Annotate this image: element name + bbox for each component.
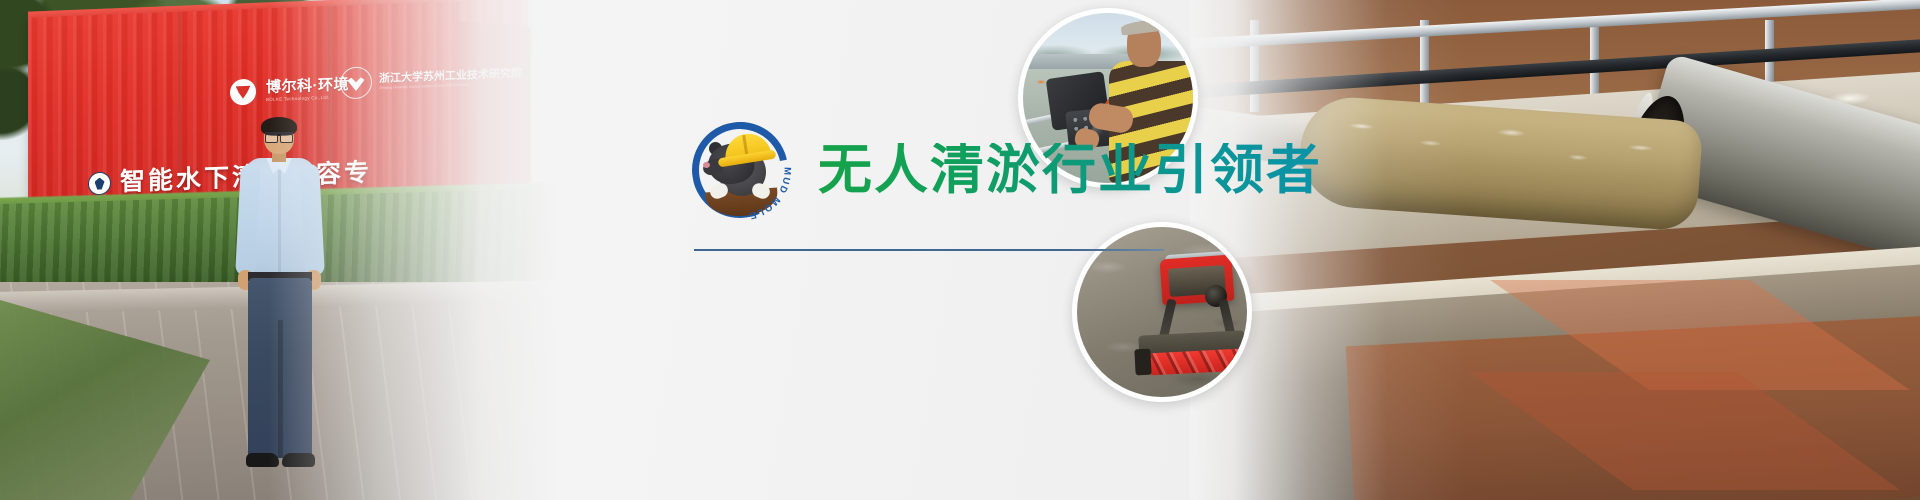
headline-row: MUD MOLE 无人清淤行业引领者 bbox=[688, 118, 1322, 222]
robot-auger-end-cap bbox=[1134, 349, 1151, 376]
svg-text:MUD MOLE: MUD MOLE bbox=[747, 167, 793, 221]
promo-banner: 博尔科·环境 BOLKE Technology Co.,Ltd. 浙江大学苏州工… bbox=[0, 0, 1920, 500]
figure-shoe-left bbox=[246, 453, 279, 467]
left-photo-container-site: 博尔科·环境 BOLKE Technology Co.,Ltd. 浙江大学苏州工… bbox=[0, 0, 560, 500]
bolke-shield-icon bbox=[230, 79, 256, 106]
mud-mole-logo: MUD MOLE bbox=[688, 118, 792, 222]
railing-post bbox=[1250, 20, 1259, 112]
logo-arc-label: MUD MOLE bbox=[747, 167, 793, 221]
logo-arc-text: MUD MOLE bbox=[688, 118, 792, 222]
headline-divider bbox=[694, 249, 1164, 251]
container-brand-cn: 博尔科·环境 bbox=[266, 77, 349, 96]
figure-leg-split bbox=[278, 320, 283, 458]
slogan-badge-icon bbox=[88, 172, 111, 196]
eyeglasses-icon bbox=[265, 132, 293, 139]
center-content: MUD MOLE 无人清淤行业引领者 bbox=[688, 118, 1208, 268]
university-seal-icon bbox=[340, 66, 372, 99]
banner-headline: 无人清淤行业引领者 bbox=[818, 143, 1322, 197]
engineer-figure bbox=[228, 120, 338, 500]
figure-shoe-right bbox=[282, 453, 315, 467]
container-brand-en: BOLKE Technology Co.,Ltd. bbox=[266, 95, 349, 103]
right-photo-sludge-discharge bbox=[1190, 0, 1920, 500]
figure-shirt-placket bbox=[278, 170, 281, 274]
